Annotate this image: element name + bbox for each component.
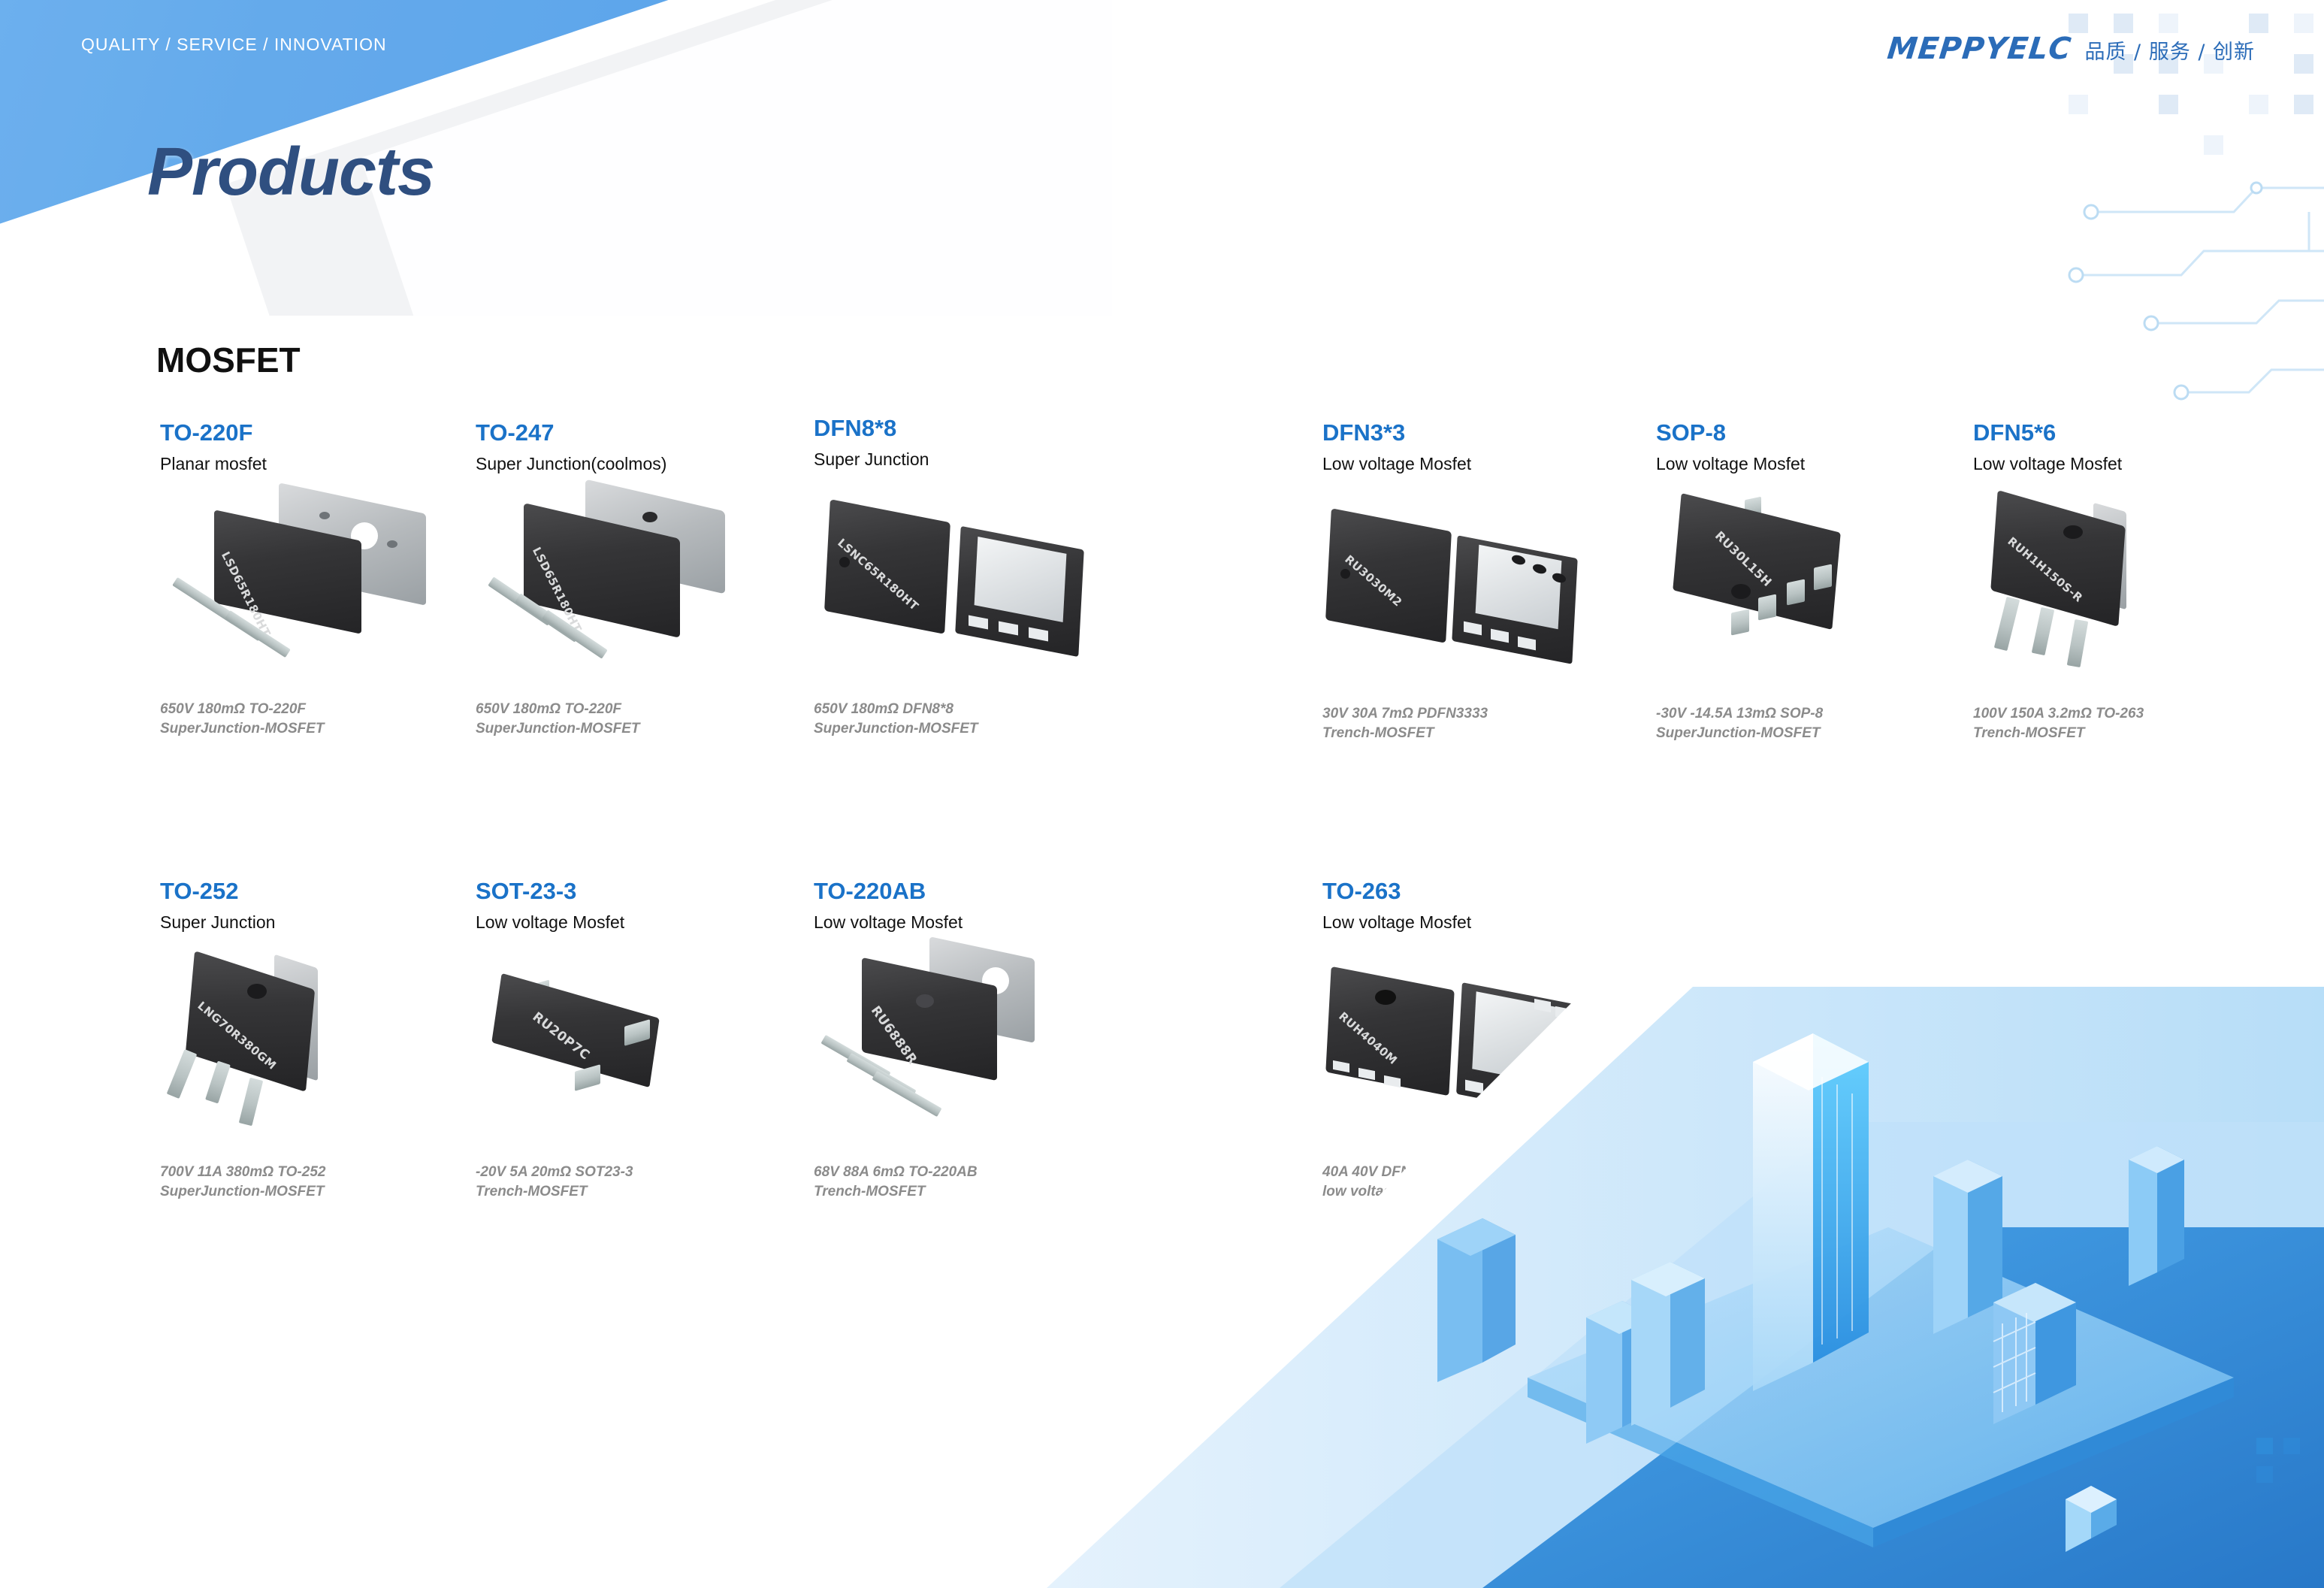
product-image-dfn3x3: RU3030M2 — [1322, 492, 1623, 673]
dot-grid-decoration — [1843, 0, 2324, 180]
product-code: SOT-23-3 — [476, 878, 776, 905]
product-caption: -20V 5A 20mΩ SOT23-3 Trench-MOSFET — [476, 1163, 776, 1202]
product-caption: 30V 30A 7mΩ PDFN3333 Trench-MOSFET — [1322, 704, 1623, 743]
product-card-sot-23-3[interactable]: SOT-23-3 Low voltage Mosfet RU20P7C -20V… — [476, 878, 776, 1202]
product-card-to-252[interactable]: TO-252 Super Junction LNG70R380GM 700V 1… — [160, 878, 461, 1202]
product-card-dfn3x3[interactable]: DFN3*3 Low voltage Mosfet RU3030M2 30V 3… — [1322, 419, 1623, 743]
product-card-dfn8x8[interactable]: DFN8*8 Super Junction LSNC65R180HT 650V … — [814, 415, 1114, 739]
product-caption: -30V -14.5A 13mΩ SOP-8 SuperJunction-MOS… — [1656, 704, 1957, 743]
product-image-dfn5x6: RUH1H150S-R — [1973, 492, 2274, 673]
product-subtitle: Super Junction(coolmos) — [476, 454, 776, 474]
product-subtitle: Super Junction — [814, 449, 1114, 470]
products-page: QUALITY / SERVICE / INNOVATION Products … — [0, 0, 2324, 1588]
product-caption: 700V 11A 380mΩ TO-252 SuperJunction-MOSF… — [160, 1163, 461, 1202]
logo-wordmark: MEPPYELC — [1885, 32, 2073, 66]
product-code: TO-247 — [476, 419, 776, 446]
tagline: QUALITY / SERVICE / INNOVATION — [81, 35, 387, 55]
product-caption: 100V 150A 3.2mΩ TO-263 Trench-MOSFET — [1973, 704, 2274, 743]
product-subtitle: Low voltage Mosfet — [476, 912, 776, 933]
circuit-lines-decoration — [1903, 173, 2324, 488]
product-code: DFN8*8 — [814, 415, 1114, 442]
product-image-sop-8: RU30L15H — [1656, 492, 1957, 673]
product-card-to-247[interactable]: TO-247 Super Junction(coolmos) LSD65R180… — [476, 419, 776, 739]
product-caption: 650V 180mΩ DFN8*8 SuperJunction-MOSFET — [814, 700, 1114, 739]
product-subtitle: Low voltage Mosfet — [1322, 454, 1623, 474]
product-caption: 650V 180mΩ TO-220F SuperJunction-MOSFET — [160, 700, 461, 739]
product-code: TO-220F — [160, 419, 461, 446]
page-title: Products — [147, 134, 434, 211]
product-image-dfn8x8: LSNC65R180HT — [814, 488, 1114, 668]
product-subtitle: Planar mosfet — [160, 454, 461, 474]
brand-logo: MEPPYELC 品质 / 服务 / 创新 — [1887, 32, 2255, 66]
logo-chinese-tagline: 品质 / 服务 / 创新 — [2084, 35, 2255, 65]
page-section-title: MOSFET — [156, 340, 301, 380]
product-card-to-220f[interactable]: TO-220F Planar mosfet LSD65R180HT 650V 1… — [160, 419, 461, 739]
product-code: DFN3*3 — [1322, 419, 1623, 446]
city-illustration — [956, 836, 2324, 1588]
product-image-to-247: LSD65R180HT — [476, 492, 776, 673]
product-image-to-220f: LSD65R180HT — [160, 492, 461, 673]
product-image-sot-23-3: RU20P7C — [476, 951, 776, 1131]
product-code: TO-252 — [160, 878, 461, 905]
product-subtitle: Super Junction — [160, 912, 461, 933]
product-caption: 650V 180mΩ TO-220F SuperJunction-MOSFET — [476, 700, 776, 739]
product-image-to-252: LNG70R380GM — [160, 951, 461, 1131]
